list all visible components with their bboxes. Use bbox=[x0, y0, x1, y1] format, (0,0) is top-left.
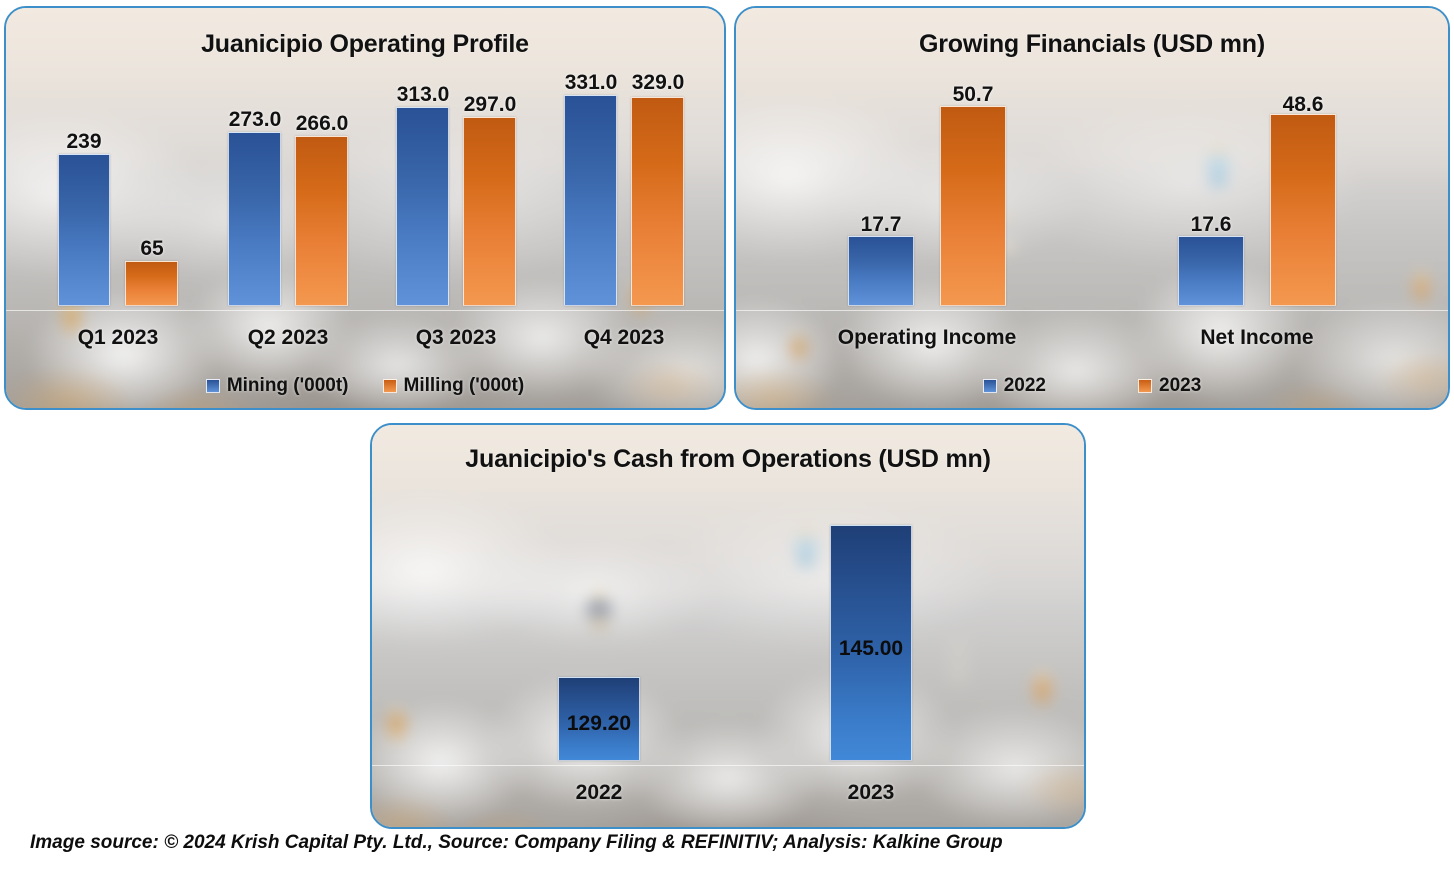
bar-milling-q4 bbox=[631, 97, 684, 306]
category-label-q3: Q3 2023 bbox=[386, 326, 526, 350]
bar-value-2023-net-income: 48.6 bbox=[1268, 93, 1338, 117]
bar-mining-q3 bbox=[396, 107, 449, 306]
category-label-q1: Q1 2023 bbox=[48, 326, 188, 350]
bar-mining-q1 bbox=[58, 154, 110, 306]
legend-label-mining: Mining ('000t) bbox=[227, 375, 349, 397]
bar-2023-net-income bbox=[1270, 114, 1336, 306]
legend-swatch-orange-icon bbox=[1138, 379, 1152, 393]
category-label-operating-income: Operating Income bbox=[817, 326, 1037, 350]
category-label-q2: Q2 2023 bbox=[218, 326, 358, 350]
bar-mining-q4 bbox=[564, 95, 617, 306]
bar-2022-operating-income bbox=[848, 236, 914, 306]
bar-milling-q1 bbox=[125, 261, 178, 306]
bar-value-cash-2022: 129.20 bbox=[550, 712, 648, 736]
legend-swatch-blue-icon bbox=[983, 379, 997, 393]
category-label-2023: 2023 bbox=[811, 781, 931, 805]
legend-item-milling[interactable]: Milling ('000t) bbox=[383, 375, 525, 397]
panel-operating-profile: Juanicipio Operating Profile 239 65 Q1 2… bbox=[4, 6, 726, 410]
bar-value-2023-operating-income: 50.7 bbox=[938, 83, 1008, 107]
panel-growing-financials: Growing Financials (USD mn) 17.7 50.7 Op… bbox=[734, 6, 1450, 410]
legend-swatch-orange-icon bbox=[383, 379, 397, 393]
bar-value-mining-q1: 239 bbox=[48, 130, 120, 154]
legend-item-2022[interactable]: 2022 bbox=[983, 375, 1046, 397]
bar-value-milling-q3: 297.0 bbox=[452, 93, 528, 117]
category-label-2022: 2022 bbox=[539, 781, 659, 805]
axis-baseline bbox=[736, 310, 1448, 311]
bar-value-mining-q3: 313.0 bbox=[385, 83, 461, 107]
plot-area-operating-profile: 239 65 Q1 2023 273.0 266.0 Q2 2023 313.0 bbox=[6, 8, 724, 408]
legend-label-milling: Milling ('000t) bbox=[404, 375, 525, 397]
plot-area-growing-financials: 17.7 50.7 Operating Income 17.6 48.6 Net… bbox=[736, 8, 1448, 408]
bar-value-mining-q4: 331.0 bbox=[553, 71, 629, 95]
bar-milling-q2 bbox=[295, 136, 348, 306]
axis-baseline bbox=[372, 765, 1084, 766]
bar-value-2022-operating-income: 17.7 bbox=[846, 213, 916, 237]
bar-value-2022-net-income: 17.6 bbox=[1176, 213, 1246, 237]
image-source-footer: Image source: © 2024 Krish Capital Pty. … bbox=[30, 832, 1003, 854]
bar-value-milling-q2: 266.0 bbox=[284, 112, 360, 136]
bar-value-mining-q2: 273.0 bbox=[217, 108, 293, 132]
legend-label-2023: 2023 bbox=[1159, 375, 1201, 397]
legend-item-2023[interactable]: 2023 bbox=[1138, 375, 1201, 397]
bar-2023-operating-income bbox=[940, 106, 1006, 306]
bar-value-cash-2023: 145.00 bbox=[822, 637, 920, 661]
bar-value-milling-q1: 65 bbox=[116, 237, 188, 261]
bar-milling-q3 bbox=[463, 117, 516, 306]
category-label-q4: Q4 2023 bbox=[554, 326, 694, 350]
axis-baseline bbox=[6, 310, 724, 311]
panel-cash-from-operations: Juanicipio's Cash from Operations (USD m… bbox=[370, 423, 1086, 829]
legend-swatch-blue-icon bbox=[206, 379, 220, 393]
legend-operating-profile: Mining ('000t) Milling ('000t) bbox=[6, 375, 724, 397]
bar-value-milling-q4: 329.0 bbox=[620, 71, 696, 95]
legend-item-mining[interactable]: Mining ('000t) bbox=[206, 375, 349, 397]
legend-label-2022: 2022 bbox=[1004, 375, 1046, 397]
category-label-net-income: Net Income bbox=[1147, 326, 1367, 350]
bar-mining-q2 bbox=[228, 132, 281, 306]
legend-growing-financials: 2022 2023 bbox=[736, 375, 1448, 397]
bar-2022-net-income bbox=[1178, 236, 1244, 306]
plot-area-cash-from-operations: 129.20 145.00 2022 2023 bbox=[372, 425, 1084, 827]
infographic-canvas: Juanicipio Operating Profile 239 65 Q1 2… bbox=[0, 0, 1454, 870]
